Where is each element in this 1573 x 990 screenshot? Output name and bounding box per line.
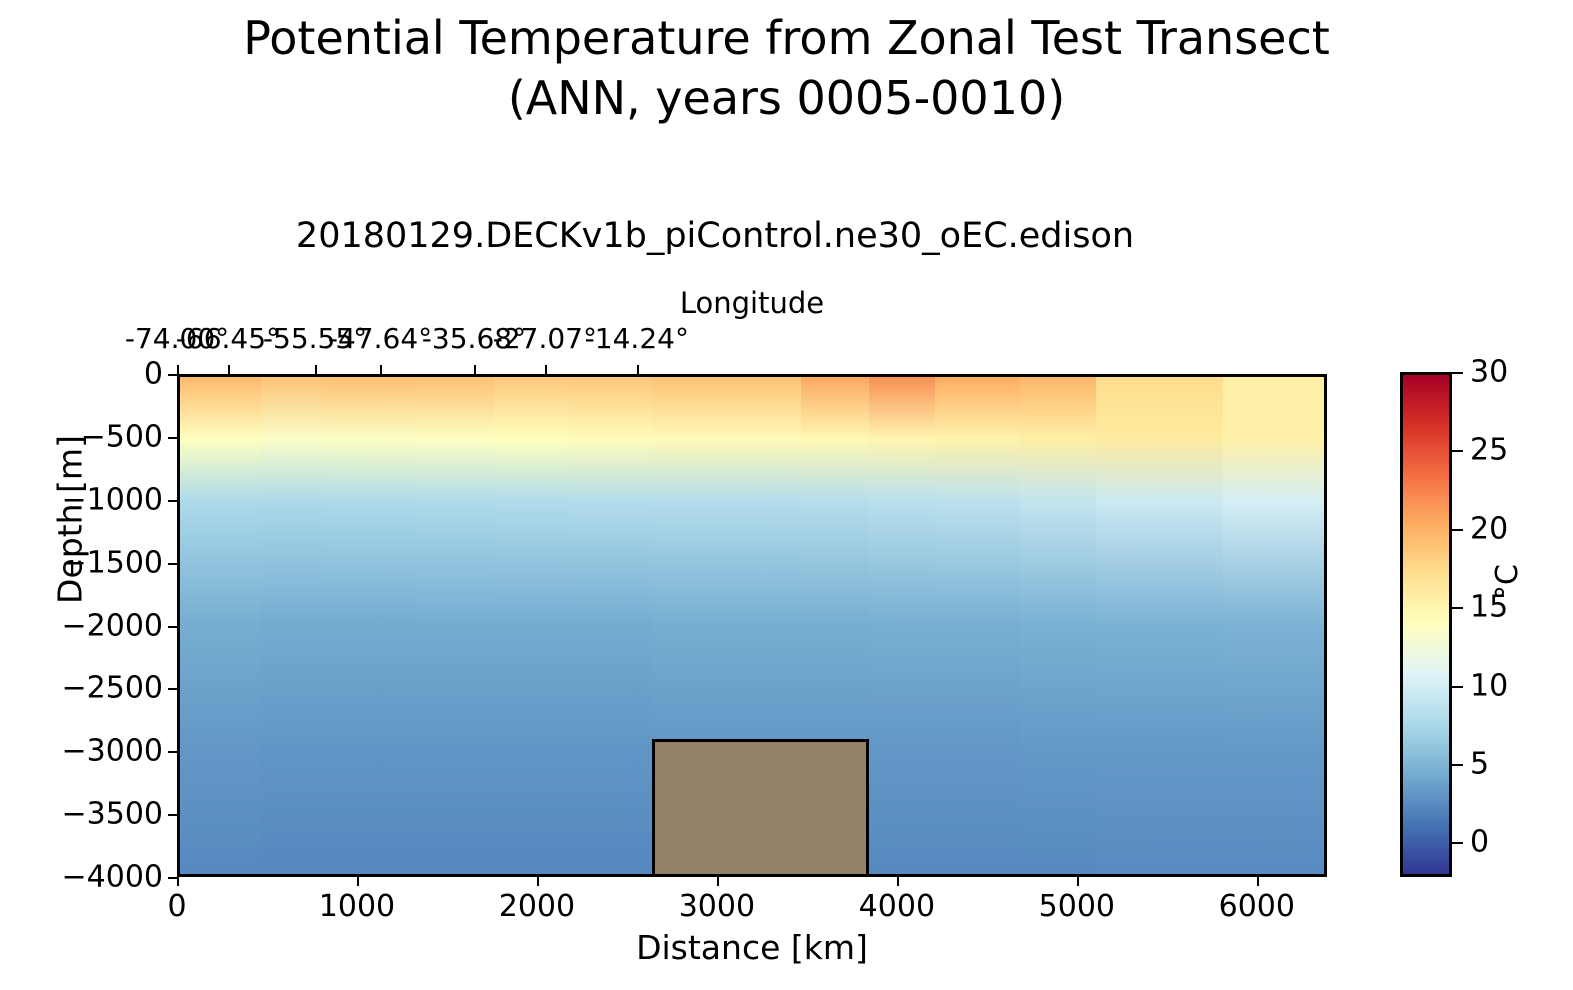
x-tick-label: 5000 [1039,889,1115,924]
top-axis-label: Longitude [177,286,1327,320]
longitude-tick-label: -27.07° [493,322,597,355]
y-tick [168,626,177,628]
colorbar-tick [1452,764,1463,766]
colorbar-unit-label: °C [1490,564,1525,600]
longitude-tick [474,365,476,374]
x-tick [537,877,539,886]
figure-canvas: Potential Temperature from Zonal Test Tr… [0,0,1573,990]
colorbar-tick [1452,607,1463,609]
longitude-tick-label: -47.64° [328,322,432,355]
x-tick [717,877,719,886]
colorbar-tick [1452,372,1463,374]
x-tick [1077,877,1079,886]
y-tick [168,814,177,816]
x-tick-label: 0 [167,889,186,924]
y-tick [168,374,177,376]
x-axis-label: Distance [km] [177,928,1327,967]
x-tick [897,877,899,886]
x-tick-label: 6000 [1219,889,1295,924]
heatmap-column [1096,377,1223,874]
y-tick-label: −3500 [62,797,163,832]
suptitle-line-2: (ANN, years 0005-0010) [0,68,1573,128]
y-tick-label: −4000 [62,860,163,895]
longitude-tick [315,365,317,374]
colorbar-tick-label: 0 [1470,825,1489,860]
colorbar-gradient [1403,375,1449,874]
heatmap-column [869,377,935,874]
heatmap-column [935,377,1020,874]
x-tick-label: 2000 [499,889,575,924]
x-tick-label: 4000 [859,889,935,924]
heatmap-column [1020,377,1096,874]
longitude-tick [228,365,230,374]
y-tick [168,751,177,753]
y-tick [168,877,177,879]
y-tick [168,688,177,690]
y-tick [168,437,177,439]
x-tick [357,877,359,886]
y-tick [168,500,177,502]
longitude-tick [380,365,382,374]
longitude-tick [177,365,179,374]
x-tick-label: 3000 [679,889,755,924]
y-axis-label: Depth [m] [51,270,90,770]
longitude-tick [545,365,547,374]
colorbar-tick-label: 20 [1470,511,1508,546]
heatmap-column [567,377,651,874]
transect-plot-area [177,374,1327,877]
colorbar [1400,372,1452,877]
bathymetry-mask [652,739,870,877]
x-tick [177,877,179,886]
colorbar-tick-label: 10 [1470,668,1508,703]
longitude-tick-label: -14.24° [585,322,689,355]
colorbar-tick [1452,686,1463,688]
figure-suptitle: Potential Temperature from Zonal Test Tr… [0,8,1573,128]
colorbar-tick-label: 30 [1470,355,1508,390]
y-tick-label: −500 [81,419,163,454]
colorbar-tick-label: 25 [1470,433,1508,468]
x-tick-label: 1000 [319,889,395,924]
x-tick [1257,877,1259,886]
axes-title: 20180129.DECKv1b_piControl.ne30_oEC.edis… [0,214,1430,258]
heatmap-column [415,377,494,874]
colorbar-tick-label: 5 [1470,747,1489,782]
y-tick-label: 0 [144,357,163,392]
y-tick [168,563,177,565]
heatmap-column [494,377,567,874]
suptitle-line-1: Potential Temperature from Zonal Test Tr… [243,11,1330,65]
longitude-tick [637,365,639,374]
colorbar-tick [1452,842,1463,844]
heatmap-column [1223,377,1327,874]
colorbar-tick [1452,450,1463,452]
colorbar-tick [1452,529,1463,531]
heatmap-column [261,377,321,874]
heatmap-column [180,377,261,874]
heatmap-column [321,377,415,874]
